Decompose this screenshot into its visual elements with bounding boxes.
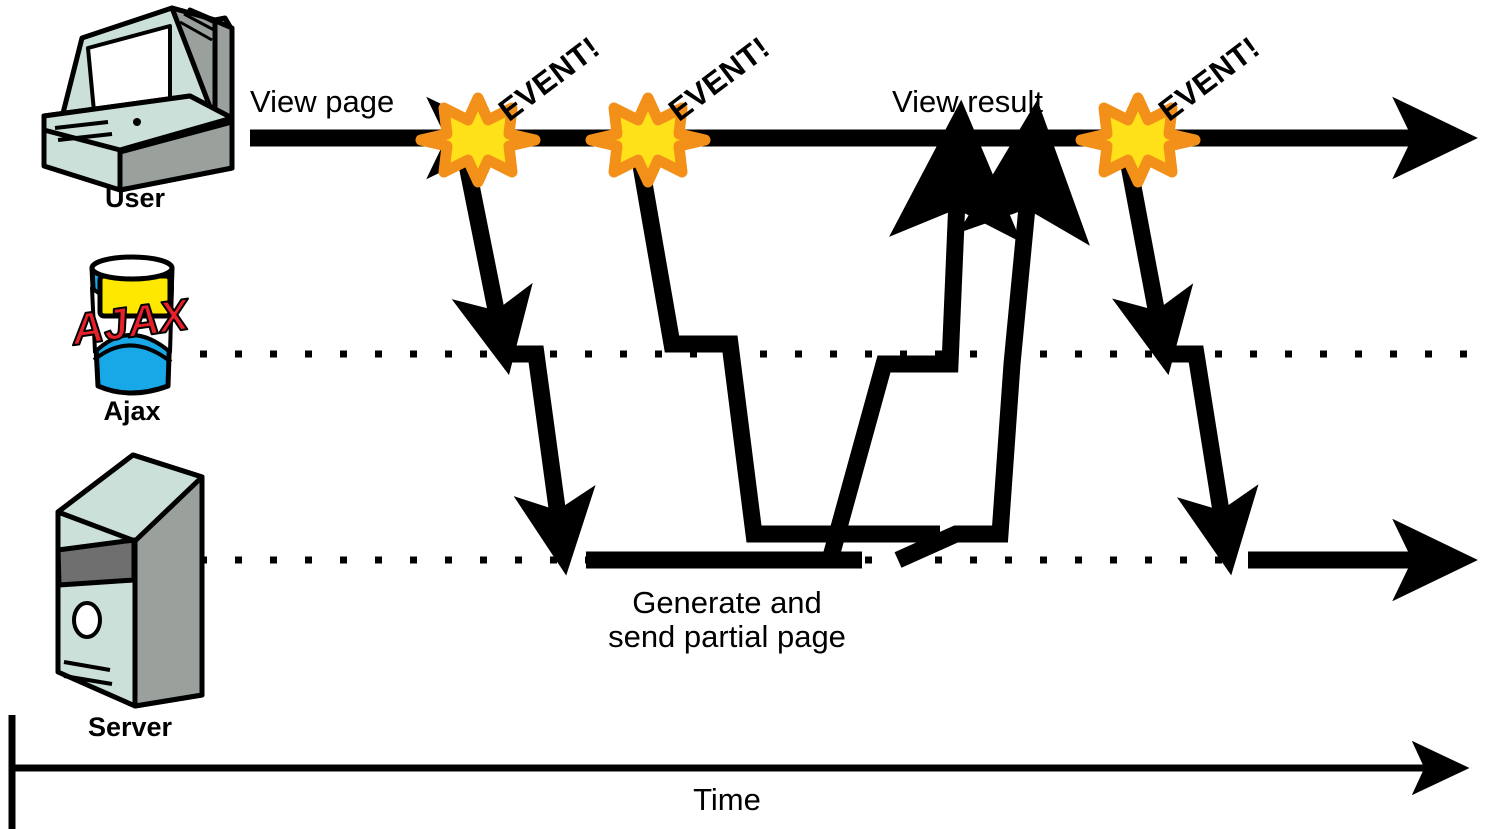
flow-label-generate-line2: send partial page <box>567 619 887 655</box>
flow-server-to-user-1 <box>830 176 958 560</box>
server-tower-icon <box>58 455 202 706</box>
actor-label-user: User <box>60 183 210 214</box>
sequence-diagram-svg: AJAX <box>0 0 1487 829</box>
desktop-computer-icon <box>44 8 232 190</box>
flow-label-view-page: View page <box>250 84 394 120</box>
flow-user-to-ajax-2 <box>640 160 940 534</box>
actor-label-server: Server <box>55 712 205 743</box>
flow-user-to-ajax-3 <box>1128 160 1160 330</box>
axis-label-time: Time <box>627 782 827 818</box>
svg-text:AJAX: AJAX <box>67 290 194 355</box>
flow-ajax-hold-3 <box>1172 354 1224 530</box>
ajax-can-icon: AJAX <box>67 257 194 393</box>
flow-label-generate-line1: Generate and <box>567 585 887 621</box>
diagram-canvas: AJAX <box>0 0 1487 829</box>
flow-ajax-hold-1 <box>512 354 560 530</box>
flow-label-view-result: View result <box>892 84 1043 120</box>
flow-user-to-ajax-1 <box>466 160 500 330</box>
actor-label-ajax: Ajax <box>57 396 207 427</box>
